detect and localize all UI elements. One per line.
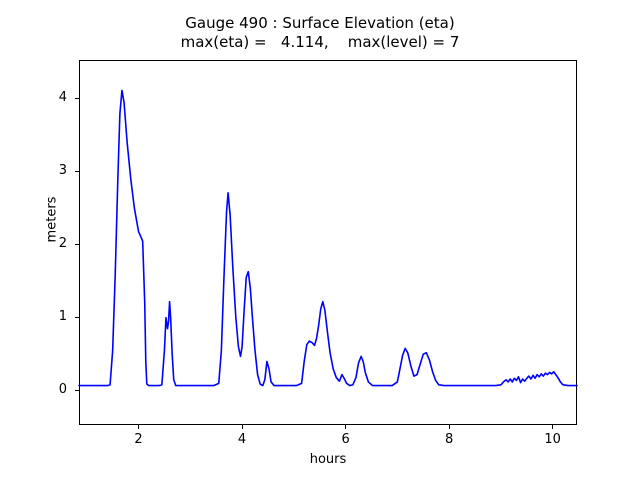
x-tick-mark [345,425,346,429]
x-tick-label: 8 [429,432,469,447]
chart-title: Gauge 490 : Surface Elevation (eta) max(… [0,14,640,52]
y-tick-label: 3 [37,163,67,178]
x-tick-label: 2 [119,432,159,447]
chart-title-line-2: max(eta) = 4.114, max(level) = 7 [0,33,640,52]
y-tick-mark [75,390,79,391]
eta-series-line [79,90,577,385]
x-tick-label: 6 [326,432,366,447]
y-tick-mark [75,317,79,318]
x-tick-label: 10 [533,432,573,447]
x-tick-label: 4 [222,432,262,447]
chart-title-line-1: Gauge 490 : Surface Elevation (eta) [0,14,640,33]
y-tick-mark [75,171,79,172]
y-tick-label: 2 [37,236,67,251]
x-tick-mark [138,425,139,429]
x-tick-mark [449,425,450,429]
y-tick-mark [75,244,79,245]
x-axis-label: hours [79,452,577,467]
y-tick-label: 1 [37,309,67,324]
y-tick-mark [75,98,79,99]
x-tick-mark [242,425,243,429]
x-tick-mark [552,425,553,429]
y-tick-label: 0 [37,382,67,397]
figure-canvas: Gauge 490 : Surface Elevation (eta) max(… [0,0,640,480]
y-tick-label: 4 [37,90,67,105]
plot-canvas [79,60,577,425]
